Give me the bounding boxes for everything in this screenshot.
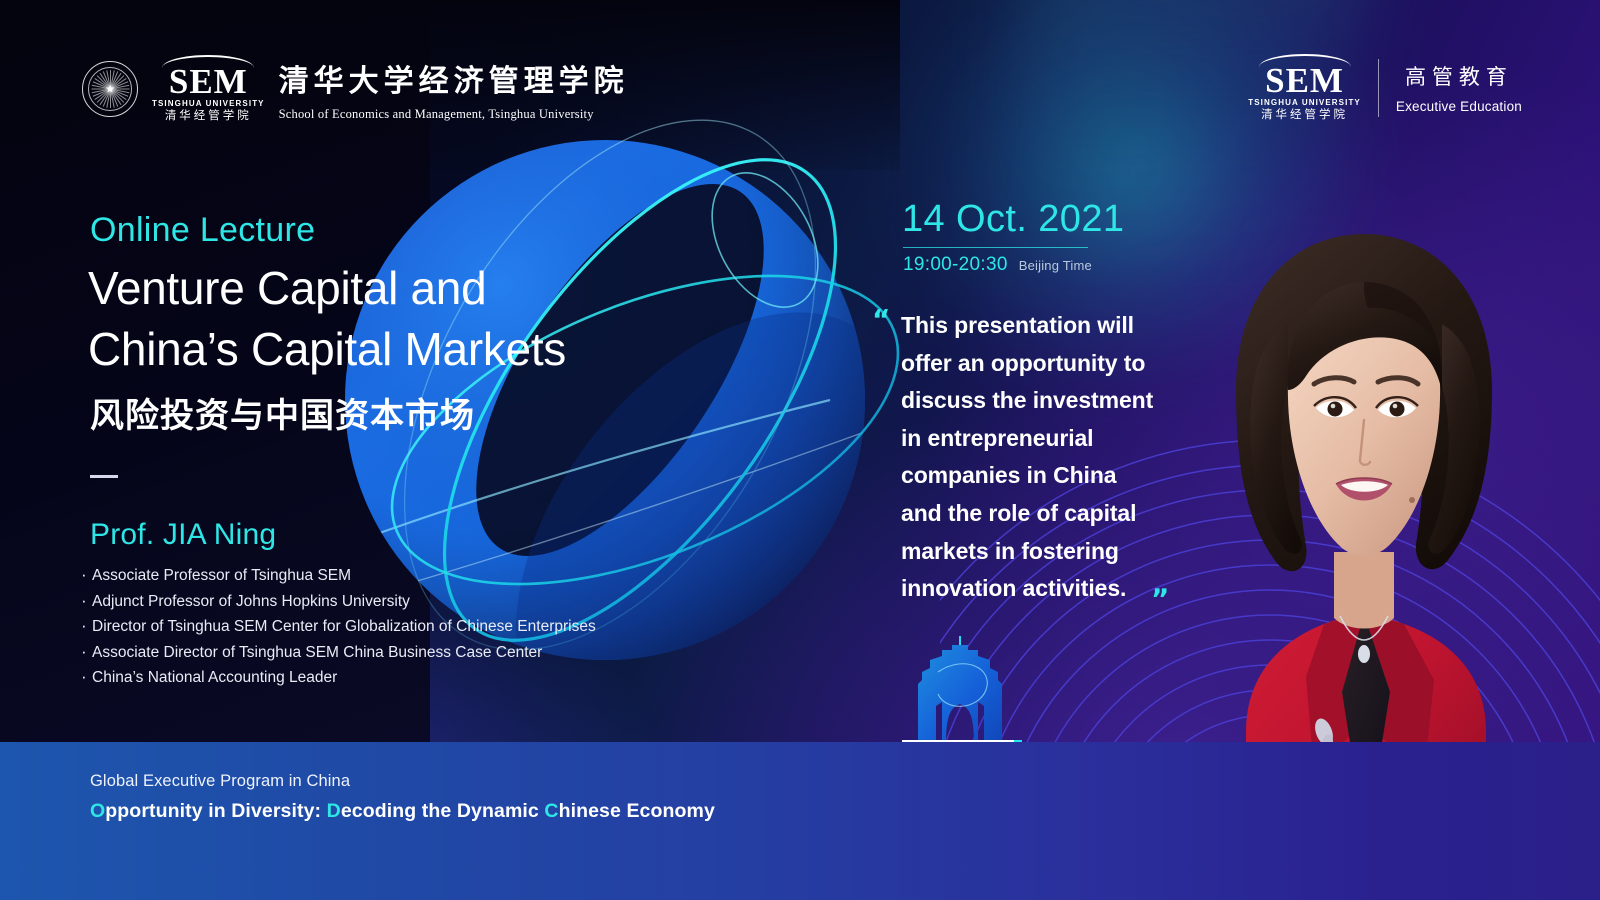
credential-item: Adjunct Professor of Johns Hopkins Unive… xyxy=(80,589,596,615)
event-time: 19:00-20:30 xyxy=(903,254,1008,276)
program-name-chinese: 高管教育 xyxy=(1405,61,1513,91)
sem-word: SEM xyxy=(169,65,248,98)
banner-text: pportunity in Diversity: xyxy=(105,800,326,822)
sem-word-right: SEM xyxy=(1265,64,1344,97)
title-line-2: China’s Capital Markets xyxy=(88,319,566,380)
highlighted-letter: D xyxy=(327,800,341,822)
sem-chinese-name: 清华经管学院 xyxy=(165,111,252,123)
executive-education-logo: SEM TSINGHUA UNIVERSITY 清华经管学院 高管教育 Exec… xyxy=(1248,54,1522,122)
banner-text: hinese Economy xyxy=(559,800,715,822)
title-divider-rule xyxy=(90,475,118,478)
banner-text: ecoding the Dynamic xyxy=(341,800,545,822)
sem-chinese-name-right: 清华经管学院 xyxy=(1261,110,1348,122)
lecture-poster: SEM TSINGHUA UNIVERSITY 清华经管学院 清华大学经济管理学… xyxy=(0,0,1600,900)
program-subtitle: Opportunity in Diversity: Decoding the D… xyxy=(90,800,715,823)
tsinghua-gate-icon xyxy=(898,636,1023,746)
program-name-english: Executive Education xyxy=(1396,99,1522,114)
sem-wordmark-right: SEM TSINGHUA UNIVERSITY 清华经管学院 xyxy=(1248,54,1361,122)
event-time-row: 19:00-20:30 Beijing Time xyxy=(903,254,1092,276)
lecture-kicker: Online Lecture xyxy=(90,211,315,250)
logo-divider xyxy=(1378,59,1379,117)
credential-item: Associate Professor of Tsinghua SEM xyxy=(80,563,596,589)
credential-item: Associate Director of Tsinghua SEM China… xyxy=(80,640,596,666)
event-timezone: Beijing Time xyxy=(1019,258,1092,273)
event-date: 14 Oct. 2021 xyxy=(902,198,1124,241)
speaker-name: Prof. JIA Ning xyxy=(90,518,276,552)
highlighted-letter: O xyxy=(90,800,105,822)
title-line-1: Venture Capital and xyxy=(88,258,566,319)
program-title: Global Executive Program in China xyxy=(90,772,350,791)
sem-subtitle-right: TSINGHUA UNIVERSITY xyxy=(1248,99,1361,107)
program-name-block: 高管教育 Executive Education xyxy=(1396,61,1522,114)
school-name-english: School of Economics and Management, Tsin… xyxy=(279,107,629,122)
page-title-chinese: 风险投资与中国资本市场 xyxy=(90,388,475,437)
speaker-credentials-list: Associate Professor of Tsinghua SEMAdjun… xyxy=(80,563,596,691)
quote-open-mark-icon: “ xyxy=(872,306,889,334)
credential-item: China’s National Accounting Leader xyxy=(80,665,596,691)
tsinghua-university-seal-icon xyxy=(82,61,138,117)
tsinghua-sem-logo: SEM TSINGHUA UNIVERSITY 清华经管学院 清华大学经济管理学… xyxy=(82,55,629,123)
school-name-block: 清华大学经济管理学院 School of Economics and Manag… xyxy=(279,56,629,122)
sem-wordmark: SEM TSINGHUA UNIVERSITY 清华经管学院 xyxy=(152,55,265,123)
sem-subtitle: TSINGHUA UNIVERSITY xyxy=(152,100,265,108)
highlighted-letter: C xyxy=(544,800,558,822)
credential-item: Director of Tsinghua SEM Center for Glob… xyxy=(80,614,596,640)
school-name-chinese: 清华大学经济管理学院 xyxy=(279,56,629,100)
page-title: Venture Capital and China’s Capital Mark… xyxy=(88,258,566,380)
date-divider-rule xyxy=(903,247,1088,248)
